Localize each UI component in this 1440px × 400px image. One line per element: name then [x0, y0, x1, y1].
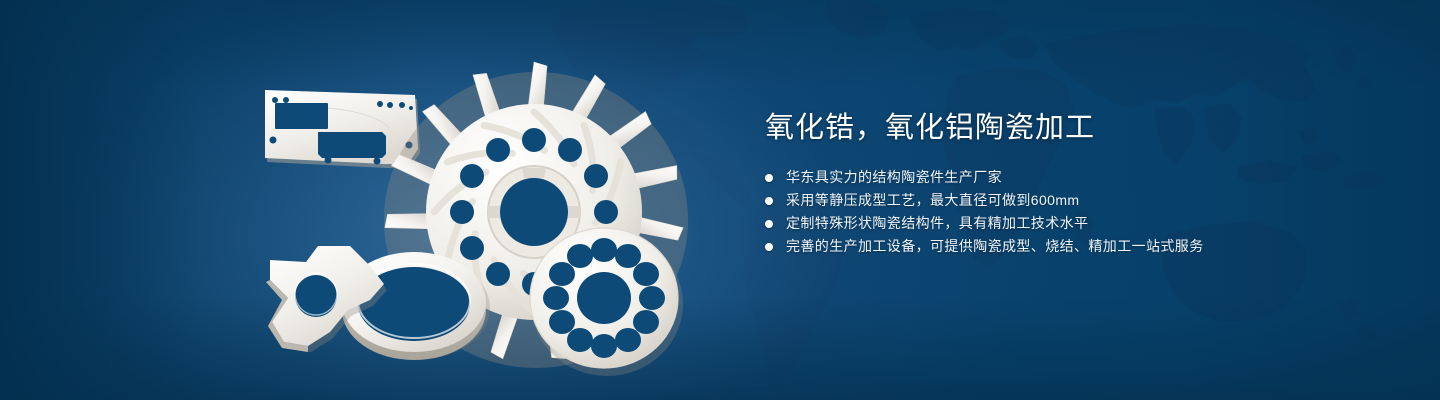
- list-item: 采用等静压成型工艺，最大直径可做到600mm: [765, 193, 1385, 208]
- bullet-dot-icon: [765, 243, 773, 251]
- ceramic-flat-plate: [265, 90, 420, 168]
- list-item-label: 华东具实力的结构陶瓷件生产厂家: [786, 170, 1002, 185]
- list-item: 华东具实力的结构陶瓷件生产厂家: [765, 170, 1385, 185]
- list-item-label: 完善的生产加工设备，可提供陶瓷成型、烧结、精加工一站式服务: [786, 239, 1204, 254]
- page-title: 氧化锆，氧化铝陶瓷加工: [765, 108, 1385, 148]
- banner-text-block: 氧化锆，氧化铝陶瓷加工 华东具实力的结构陶瓷件生产厂家 采用等静压成型工艺，最大…: [765, 108, 1385, 254]
- list-item-label: 定制特殊形状陶瓷结构件，具有精加工技术水平: [786, 216, 1088, 231]
- list-item: 定制特殊形状陶瓷结构件，具有精加工技术水平: [765, 216, 1385, 231]
- bullet-dot-icon: [765, 174, 773, 182]
- ceramic-products-image: [232, 40, 714, 380]
- list-item-label: 采用等静压成型工艺，最大直径可做到600mm: [786, 193, 1079, 208]
- bullet-dot-icon: [765, 197, 773, 205]
- feature-list: 华东具实力的结构陶瓷件生产厂家 采用等静压成型工艺，最大直径可做到600mm 定…: [765, 170, 1385, 254]
- hero-banner: 氧化锆，氧化铝陶瓷加工 华东具实力的结构陶瓷件生产厂家 采用等静压成型工艺，最大…: [0, 0, 1440, 400]
- bullet-dot-icon: [765, 220, 773, 228]
- list-item: 完善的生产加工设备，可提供陶瓷成型、烧结、精加工一站式服务: [765, 239, 1385, 254]
